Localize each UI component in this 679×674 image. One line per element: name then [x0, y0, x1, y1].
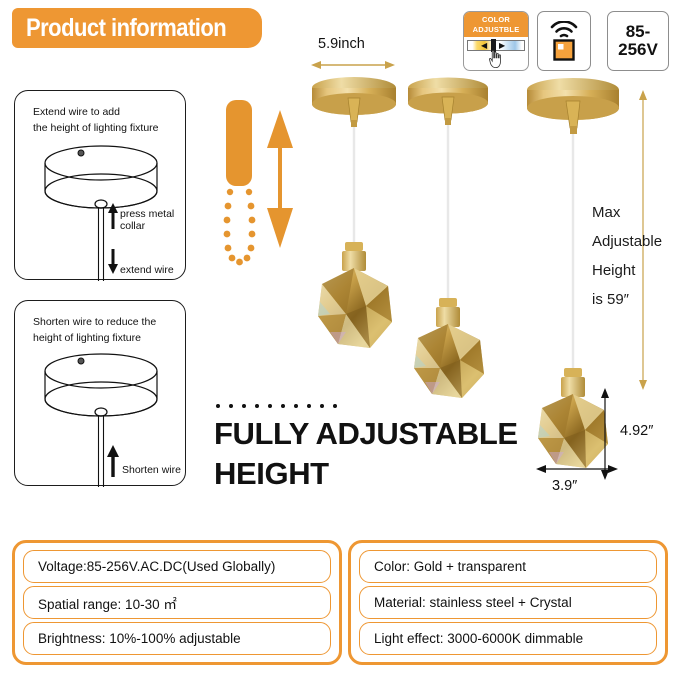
badge-color-caption: COLOR ADJUSTBLE — [464, 12, 528, 37]
wifi-icon — [549, 21, 579, 38]
max-height-line1: Max — [592, 198, 662, 227]
crystal-shade-2 — [414, 324, 484, 398]
canopy-diameter-arrow-icon — [310, 58, 396, 72]
spec-material: Material: stainless steel + Crystal — [359, 586, 657, 619]
shade-width-arrow-icon — [536, 463, 618, 475]
spec-group-left: Voltage:85-256V.AC.DC(Used Globally) Spa… — [12, 540, 342, 665]
crystal-shade-1 — [318, 268, 392, 348]
diagram-extend-wire: Extend wire to add the height of lightin… — [14, 90, 186, 280]
headline: FULLY ADJUSTABLE HEIGHT — [214, 414, 544, 494]
wire-coiled-dots — [224, 189, 256, 266]
max-adjustable-height-label: Max Adjustable Height is 59″ — [592, 198, 662, 314]
badge-voltage-line1: 85- — [618, 23, 658, 41]
pendant-light-2 — [400, 70, 500, 400]
shade-width-label: 3.9″ — [552, 478, 577, 494]
spec-light-effect: Light effect: 3000-6000K dimmable — [359, 622, 657, 655]
diagram-extend-label-down: extend wire — [120, 264, 174, 276]
wire-solid-segment — [226, 100, 252, 186]
spec-voltage: Voltage:85-256V.AC.DC(Used Globally) — [23, 550, 331, 583]
headline-dots — [216, 404, 337, 408]
spec-color: Color: Gold + transparent — [359, 550, 657, 583]
pendant-light-1 — [296, 70, 412, 355]
diagram-shorten-wire: Shorten wire to reduce the height of lig… — [14, 300, 186, 486]
badge-voltage: 85- 256V — [607, 11, 669, 71]
up-down-arrow-icon — [267, 110, 293, 248]
diagram-extend-label-up2: collar — [120, 220, 146, 232]
diagram-shorten-label-up: Shorten wire — [122, 464, 181, 476]
badge-voltage-line2: 256V — [618, 41, 658, 59]
badge-remote-control — [537, 11, 591, 71]
badge-color-line1: COLOR — [464, 15, 528, 25]
headline-line1: FULLY ADJUSTABLE — [214, 414, 544, 454]
canopy-shorten-illustration: Shorten wire — [15, 301, 187, 487]
product-information-infographic: Product information COLOR ADJUSTBLE ◀ ▶ — [0, 0, 679, 674]
diagram-extend-label-up: press metal — [120, 208, 174, 220]
max-height-line4: is 59″ — [592, 285, 662, 314]
product-information-banner: Product information — [12, 8, 262, 48]
headline-line2: HEIGHT — [214, 454, 544, 494]
spec-group-right: Color: Gold + transparent Material: stai… — [348, 540, 668, 665]
badge-color-adjustable: COLOR ADJUSTBLE ◀ ▶ — [463, 11, 529, 71]
device-square-icon — [553, 39, 575, 61]
spec-spatial-range: Spatial range: 10-30 ㎡ — [23, 586, 331, 619]
badge-color-line2: ADJUSTBLE — [464, 25, 528, 35]
hand-pointer-icon — [484, 48, 506, 70]
canopy-diameter-label: 5.9inch — [318, 36, 365, 52]
max-height-line2: Adjustable — [592, 227, 662, 256]
shade-height-label: 4.92″ — [620, 423, 653, 439]
banner-title: Product information — [26, 14, 226, 43]
adjustable-wire-graphic — [222, 100, 302, 290]
canopy-extend-illustration: press metal collar extend wire — [15, 91, 187, 281]
max-height-line3: Height — [592, 256, 662, 285]
spec-brightness: Brightness: 10%-100% adjustable — [23, 622, 331, 655]
